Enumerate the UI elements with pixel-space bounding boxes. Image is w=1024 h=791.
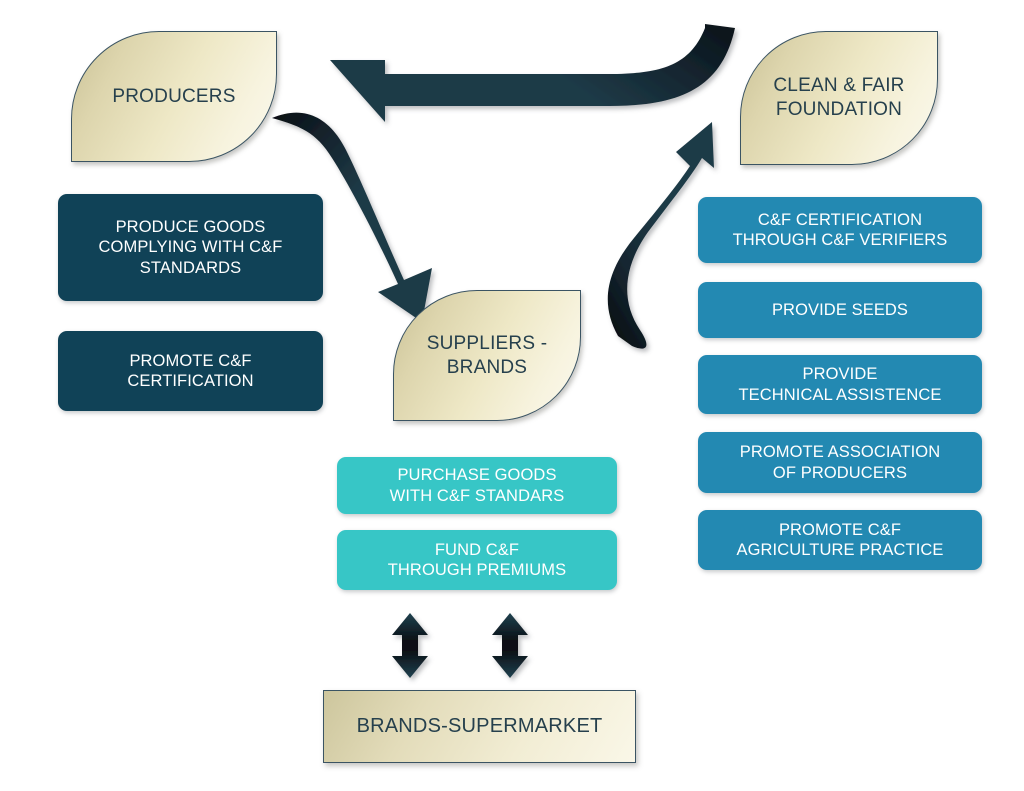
chip-line-1: FUND C&F bbox=[388, 540, 567, 560]
chip-line-2: THROUGH C&F VERIFIERS bbox=[733, 230, 948, 250]
chip-foundation-activity-1-text: C&F CERTIFICATION THROUGH C&F VERIFIERS bbox=[733, 210, 948, 251]
diagram-canvas: PRODUCERS CLEAN & FAIR FOUNDATION SUPPLI… bbox=[0, 0, 1024, 791]
node-foundation-line2: FOUNDATION bbox=[773, 98, 904, 122]
chip-line-2: WITH C&F STANDARS bbox=[390, 486, 565, 506]
node-foundation-label: CLEAN & FAIR FOUNDATION bbox=[773, 74, 904, 122]
chip-producer-activity-2[interactable]: PROMOTE C&F CERTIFICATION bbox=[58, 331, 323, 411]
arrow-supermarket-left bbox=[392, 613, 428, 678]
chip-line-2: TECHNICAL ASSISTENCE bbox=[738, 385, 941, 405]
node-suppliers-label: SUPPLIERS - BRANDS bbox=[427, 332, 547, 380]
node-producers-label: PRODUCERS bbox=[112, 85, 235, 109]
node-supermarket-label: BRANDS-SUPERMARKET bbox=[357, 715, 603, 738]
chip-line-1: C&F CERTIFICATION bbox=[733, 210, 948, 230]
chip-foundation-activity-2[interactable]: PROVIDE SEEDS bbox=[698, 282, 982, 338]
chip-foundation-activity-4[interactable]: PROMOTE ASSOCIATION OF PRODUCERS bbox=[698, 432, 982, 493]
chip-foundation-activity-2-text: PROVIDE SEEDS bbox=[772, 300, 908, 320]
arrow-foundation-to-producers bbox=[330, 24, 735, 122]
node-suppliers[interactable]: SUPPLIERS - BRANDS bbox=[393, 290, 581, 421]
chip-supplier-activity-1[interactable]: PURCHASE GOODS WITH C&F STANDARS bbox=[337, 457, 617, 514]
chip-supplier-activity-2[interactable]: FUND C&F THROUGH PREMIUMS bbox=[337, 530, 617, 590]
chip-producer-activity-1[interactable]: PRODUCE GOODS COMPLYING WITH C&F STANDAR… bbox=[58, 194, 323, 301]
node-suppliers-line1: SUPPLIERS - bbox=[427, 332, 547, 356]
node-supermarket[interactable]: BRANDS-SUPERMARKET bbox=[323, 690, 636, 763]
chip-foundation-activity-4-text: PROMOTE ASSOCIATION OF PRODUCERS bbox=[740, 442, 941, 483]
chip-line-2: THROUGH PREMIUMS bbox=[388, 560, 567, 580]
chip-foundation-activity-3[interactable]: PROVIDE TECHNICAL ASSISTENCE bbox=[698, 355, 982, 414]
arrow-supermarket-right bbox=[492, 613, 528, 678]
chip-line-2: CERTIFICATION bbox=[127, 371, 253, 391]
chip-producer-activity-2-text: PROMOTE C&F CERTIFICATION bbox=[127, 351, 253, 392]
chip-line-1: PROMOTE ASSOCIATION bbox=[740, 442, 941, 462]
chip-foundation-activity-5-text: PROMOTE C&F AGRICULTURE PRACTICE bbox=[736, 520, 943, 561]
node-suppliers-line2: BRANDS bbox=[427, 356, 547, 380]
node-foundation-line1: CLEAN & FAIR bbox=[773, 74, 904, 98]
chip-line-2: AGRICULTURE PRACTICE bbox=[736, 540, 943, 560]
chip-line-1: PROVIDE bbox=[738, 364, 941, 384]
chip-line-1: PURCHASE GOODS bbox=[390, 465, 565, 485]
chip-line-3: STANDARDS bbox=[99, 258, 283, 278]
chip-foundation-activity-3-text: PROVIDE TECHNICAL ASSISTENCE bbox=[738, 364, 941, 405]
chip-line-2: COMPLYING WITH C&F bbox=[99, 237, 283, 257]
chip-supplier-activity-1-text: PURCHASE GOODS WITH C&F STANDARS bbox=[390, 465, 565, 506]
chip-line-1: PRODUCE GOODS bbox=[99, 217, 283, 237]
chip-line-1: PROMOTE C&F bbox=[736, 520, 943, 540]
chip-line-1: PROVIDE SEEDS bbox=[772, 300, 908, 320]
chip-line-1: PROMOTE C&F bbox=[127, 351, 253, 371]
chip-foundation-activity-1[interactable]: C&F CERTIFICATION THROUGH C&F VERIFIERS bbox=[698, 197, 982, 263]
chip-producer-activity-1-text: PRODUCE GOODS COMPLYING WITH C&F STANDAR… bbox=[99, 217, 283, 278]
chip-supplier-activity-2-text: FUND C&F THROUGH PREMIUMS bbox=[388, 540, 567, 581]
chip-foundation-activity-5[interactable]: PROMOTE C&F AGRICULTURE PRACTICE bbox=[698, 510, 982, 570]
node-foundation[interactable]: CLEAN & FAIR FOUNDATION bbox=[740, 31, 938, 165]
node-producers[interactable]: PRODUCERS bbox=[71, 31, 277, 162]
chip-line-2: OF PRODUCERS bbox=[740, 463, 941, 483]
